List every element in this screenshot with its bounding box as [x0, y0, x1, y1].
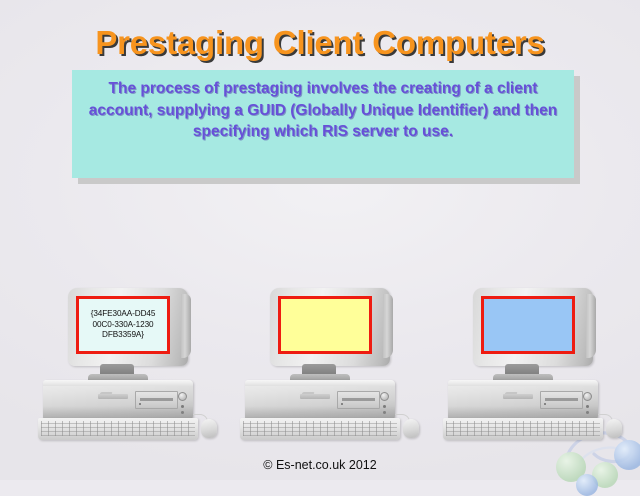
- keyboard-keys: [243, 421, 397, 436]
- copyright-footer: © Es-net.co.uk 2012: [0, 458, 640, 472]
- monitor-screen: {34FE30AA-DD45 00C0-330A-1230 DFB3359A}: [76, 296, 170, 354]
- case-top-surface: [448, 380, 598, 386]
- power-button-icon: [380, 392, 389, 401]
- body-text-box: The process of prestaging involves the c…: [72, 70, 574, 178]
- cdrom-indicator-led: [341, 403, 343, 405]
- mouse: [403, 419, 419, 438]
- computer-illustration-1: {34FE30AA-DD45 00C0-330A-1230 DFB3359A}: [38, 288, 223, 453]
- monitor-screen: [278, 296, 372, 354]
- cdrom-slot: [545, 398, 578, 401]
- slide-title: Prestaging Client Computers: [0, 24, 640, 62]
- guid-line-2: 00C0-330A-1230: [79, 320, 167, 331]
- floppy-drive-slot: [503, 394, 533, 399]
- crt-monitor: {34FE30AA-DD45 00C0-330A-1230 DFB3359A}: [68, 288, 188, 366]
- desktop-case: [43, 380, 193, 420]
- guid-display: {34FE30AA-DD45 00C0-330A-1230 DFB3359A}: [79, 299, 167, 341]
- monitor-side-panel: [383, 294, 393, 358]
- cdrom-indicator-led: [139, 403, 141, 405]
- cdrom-slot: [342, 398, 375, 401]
- slide-canvas: Prestaging Client Computers The process …: [0, 0, 640, 480]
- keyboard: [38, 418, 198, 440]
- case-top-surface: [43, 380, 193, 386]
- floppy-drive-slot: [300, 394, 330, 399]
- crt-monitor: [270, 288, 390, 366]
- desktop-case: [448, 380, 598, 420]
- guid-line-1: {34FE30AA-DD45: [79, 309, 167, 320]
- keyboard-keys: [446, 421, 600, 436]
- cdrom-slot: [140, 398, 173, 401]
- computer-illustration-3: [443, 288, 628, 453]
- body-text: The process of prestaging involves the c…: [82, 78, 564, 143]
- keyboard: [443, 418, 603, 440]
- desktop-case: [245, 380, 395, 420]
- monitor-side-panel: [586, 294, 596, 358]
- computer-illustration-2: [240, 288, 425, 453]
- keyboard: [240, 418, 400, 440]
- case-top-surface: [245, 380, 395, 386]
- power-button-icon: [178, 392, 187, 401]
- cdrom-indicator-led: [544, 403, 546, 405]
- mouse: [606, 419, 622, 438]
- guid-line-3: DFB3359A}: [79, 330, 167, 341]
- keyboard-keys: [41, 421, 195, 436]
- crt-monitor: [473, 288, 593, 366]
- power-button-icon: [583, 392, 592, 401]
- monitor-side-panel: [181, 294, 191, 358]
- floppy-drive-slot: [98, 394, 128, 399]
- monitor-screen: [481, 296, 575, 354]
- mouse: [201, 419, 217, 438]
- decorative-bubble: [576, 474, 598, 496]
